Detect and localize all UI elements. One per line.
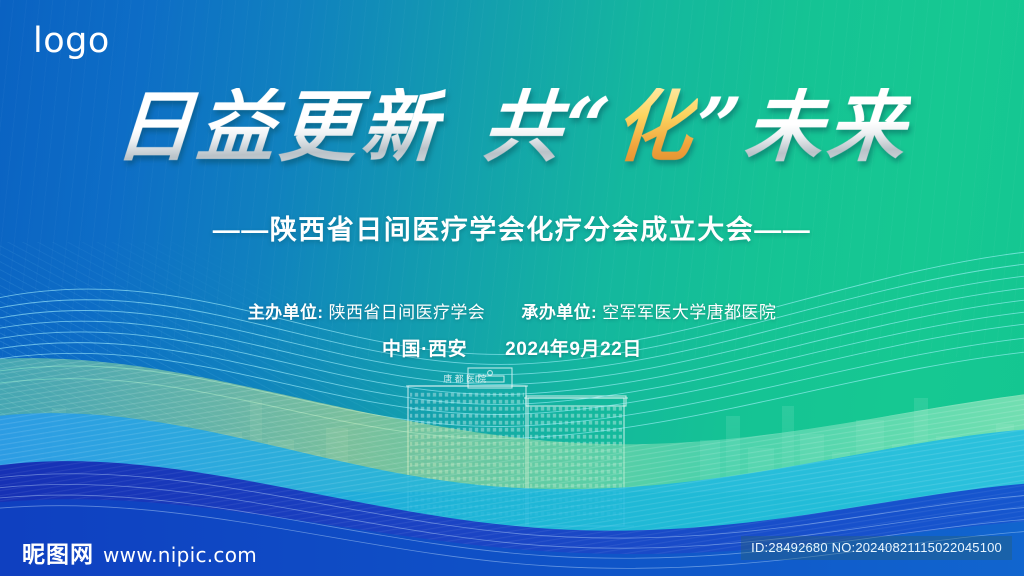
title-part-2-open: 共“ [480,88,616,168]
subtitle: ——陕西省日间医疗学会化疗分会成立大会—— [0,208,1024,247]
banner-canvas: 唐都医院 [0,0,1024,576]
undertaker-value: 空军军医大学唐都医院 [602,303,776,322]
main-title-block: 日益更新共“化”未来 [0,88,1024,168]
main-title: 日益更新共“化”未来 [115,88,909,168]
host-label: 主办单位: [248,303,324,322]
date-text: 2024年9月22日 [505,339,642,360]
organizer-line: 主办单位: 陕西省日间医疗学会 承办单位: 空军军医大学唐都医院 [0,298,1024,323]
title-part-2-gold: 化 [611,88,699,168]
watermark-brand-cn: 昵图网 [22,535,94,569]
watermark-brand[interactable]: 昵图网 www.nipic.com [0,535,257,569]
location-date-line: 中国·西安 2024年9月22日 [0,334,1024,361]
logo-text[interactable]: logo [33,24,110,59]
host-value: 陕西省日间医疗学会 [329,303,486,322]
wave-decoration [0,242,1024,576]
title-part-2-close: ”未来 [693,88,911,168]
image-id-tag: ID:28492680 NO:20240821115022045100 [741,536,1012,560]
watermark-brand-url: www.nipic.com [103,543,257,567]
title-part-1: 日益更新 [112,88,446,168]
location-text: 中国·西安 [382,339,467,360]
undertaker-label: 承办单位: [521,303,597,322]
